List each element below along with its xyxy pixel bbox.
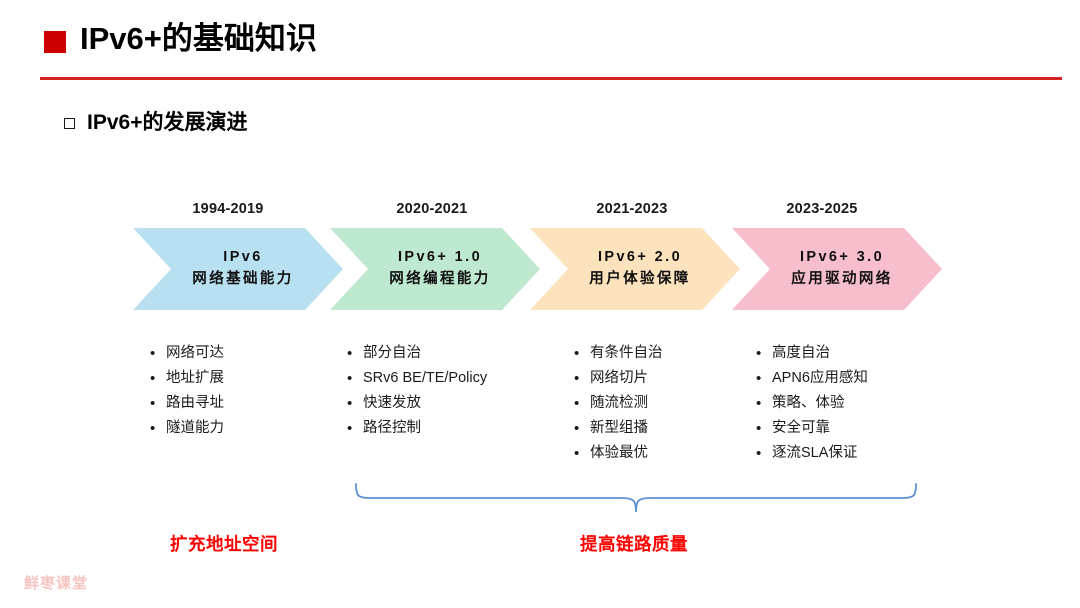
bullet-dot-icon: •: [150, 366, 166, 391]
list-item: •隧道能力: [150, 416, 224, 441]
list-item-label: 网络可达: [166, 341, 224, 366]
list-item-label: 随流检测: [590, 391, 648, 416]
list-item: •随流检测: [574, 391, 663, 416]
list-item-label: 有条件自治: [590, 341, 663, 366]
list-item: •地址扩展: [150, 366, 224, 391]
bullet-dot-icon: •: [574, 441, 590, 466]
watermark: 鲜枣课堂: [24, 572, 88, 593]
period-label-3: 2021-2023: [596, 201, 667, 217]
bullet-dot-icon: •: [574, 416, 590, 441]
list-item: •有条件自治: [574, 341, 663, 366]
bullet-dot-icon: •: [347, 416, 363, 441]
period-label-2: 2020-2021: [396, 201, 467, 217]
bullet-dot-icon: •: [574, 366, 590, 391]
period-label-4: 2023-2025: [786, 201, 857, 217]
callout-expand-address-space: 扩充地址空间: [170, 531, 278, 556]
list-item: •逐流SLA保证: [756, 441, 868, 466]
section-subtitle: IPv6+的发展演进: [64, 106, 247, 136]
list-item: •路由寻址: [150, 391, 224, 416]
bullet-column-1: •网络可达 •地址扩展 •路由寻址 •隧道能力: [150, 341, 224, 441]
bullet-column-3: •有条件自治 •网络切片 •随流检测 •新型组播 •体验最优: [574, 341, 663, 466]
stage-capability-2: 网络编程能力: [389, 269, 490, 291]
stage-capability-3: 用户体验保障: [589, 269, 690, 291]
list-item-label: 路径控制: [363, 416, 421, 441]
period-label-1: 1994-2019: [192, 201, 263, 217]
bullet-dot-icon: •: [347, 391, 363, 416]
red-square-bullet-icon: [44, 31, 66, 53]
page-title: IPv6+的基础知识: [44, 22, 317, 56]
stage-chevron-ipv6plus-3[interactable]: IPv6+ 3.0 应用驱动网络: [732, 228, 942, 310]
bullet-dot-icon: •: [574, 341, 590, 366]
stage-chevron-ipv6plus-1[interactable]: IPv6+ 1.0 网络编程能力: [330, 228, 540, 310]
list-item: •网络切片: [574, 366, 663, 391]
list-item-label: 高度自治: [772, 341, 830, 366]
list-item-label: 策略、体验: [772, 391, 845, 416]
list-item: •网络可达: [150, 341, 224, 366]
list-item-label: 路由寻址: [166, 391, 224, 416]
list-item-label: 体验最优: [590, 441, 648, 466]
list-item-label: 部分自治: [363, 341, 421, 366]
list-item: •新型组播: [574, 416, 663, 441]
list-item: •APN6应用感知: [756, 366, 868, 391]
stage-chevron-ipv6plus-2[interactable]: IPv6+ 2.0 用户体验保障: [530, 228, 740, 310]
bullet-dot-icon: •: [756, 416, 772, 441]
list-item: •体验最优: [574, 441, 663, 466]
list-item-label: APN6应用感知: [772, 366, 868, 391]
list-item-label: 快速发放: [363, 391, 421, 416]
stage-name-3: IPv6+ 2.0: [598, 247, 682, 269]
bullet-column-2: •部分自治 •SRv6 BE/TE/Policy •快速发放 •路径控制: [347, 341, 487, 441]
bullet-dot-icon: •: [756, 341, 772, 366]
list-item-label: 隧道能力: [166, 416, 224, 441]
list-item-label: 地址扩展: [166, 366, 224, 391]
list-item: •高度自治: [756, 341, 868, 366]
timeline-diagram: 1994-2019 2020-2021 2021-2023 2023-2025 …: [0, 0, 1080, 608]
list-item: •策略、体验: [756, 391, 868, 416]
page-title-text: IPv6+的基础知识: [80, 22, 317, 56]
list-item-label: 网络切片: [590, 366, 648, 391]
bullet-dot-icon: •: [150, 341, 166, 366]
stage-chevron-ipv6[interactable]: IPv6 网络基础能力: [133, 228, 343, 310]
title-divider: [40, 77, 1062, 80]
bullet-dot-icon: •: [150, 416, 166, 441]
bullet-dot-icon: •: [347, 341, 363, 366]
list-item: •路径控制: [347, 416, 487, 441]
list-item-label: 逐流SLA保证: [772, 441, 857, 466]
bullet-dot-icon: •: [574, 391, 590, 416]
list-item: •安全可靠: [756, 416, 868, 441]
bullet-dot-icon: •: [347, 366, 363, 391]
section-subtitle-text: IPv6+的发展演进: [87, 106, 247, 136]
bullet-dot-icon: •: [756, 441, 772, 466]
list-item: •快速发放: [347, 391, 487, 416]
slide-root: IPv6+的基础知识 IPv6+的发展演进 1994-2019 2020-202…: [0, 0, 1080, 608]
bullet-column-4: •高度自治 •APN6应用感知 •策略、体验 •安全可靠 •逐流SLA保证: [756, 341, 868, 466]
list-item: •部分自治: [347, 341, 487, 366]
list-item-label: 安全可靠: [772, 416, 830, 441]
stage-capability-4: 应用驱动网络: [791, 269, 892, 291]
bullet-dot-icon: •: [150, 391, 166, 416]
curly-brace-icon: [350, 482, 922, 522]
stage-name-4: IPv6+ 3.0: [800, 247, 884, 269]
stage-name-1: IPv6: [223, 247, 262, 269]
stage-name-2: IPv6+ 1.0: [398, 247, 482, 269]
callout-improve-link-quality: 提高链路质量: [580, 531, 688, 556]
bullet-dot-icon: •: [756, 366, 772, 391]
list-item-label: SRv6 BE/TE/Policy: [363, 366, 487, 391]
hollow-square-bullet-icon: [64, 118, 75, 129]
bullet-dot-icon: •: [756, 391, 772, 416]
list-item: •SRv6 BE/TE/Policy: [347, 366, 487, 391]
list-item-label: 新型组播: [590, 416, 648, 441]
stage-capability-1: 网络基础能力: [192, 269, 293, 291]
